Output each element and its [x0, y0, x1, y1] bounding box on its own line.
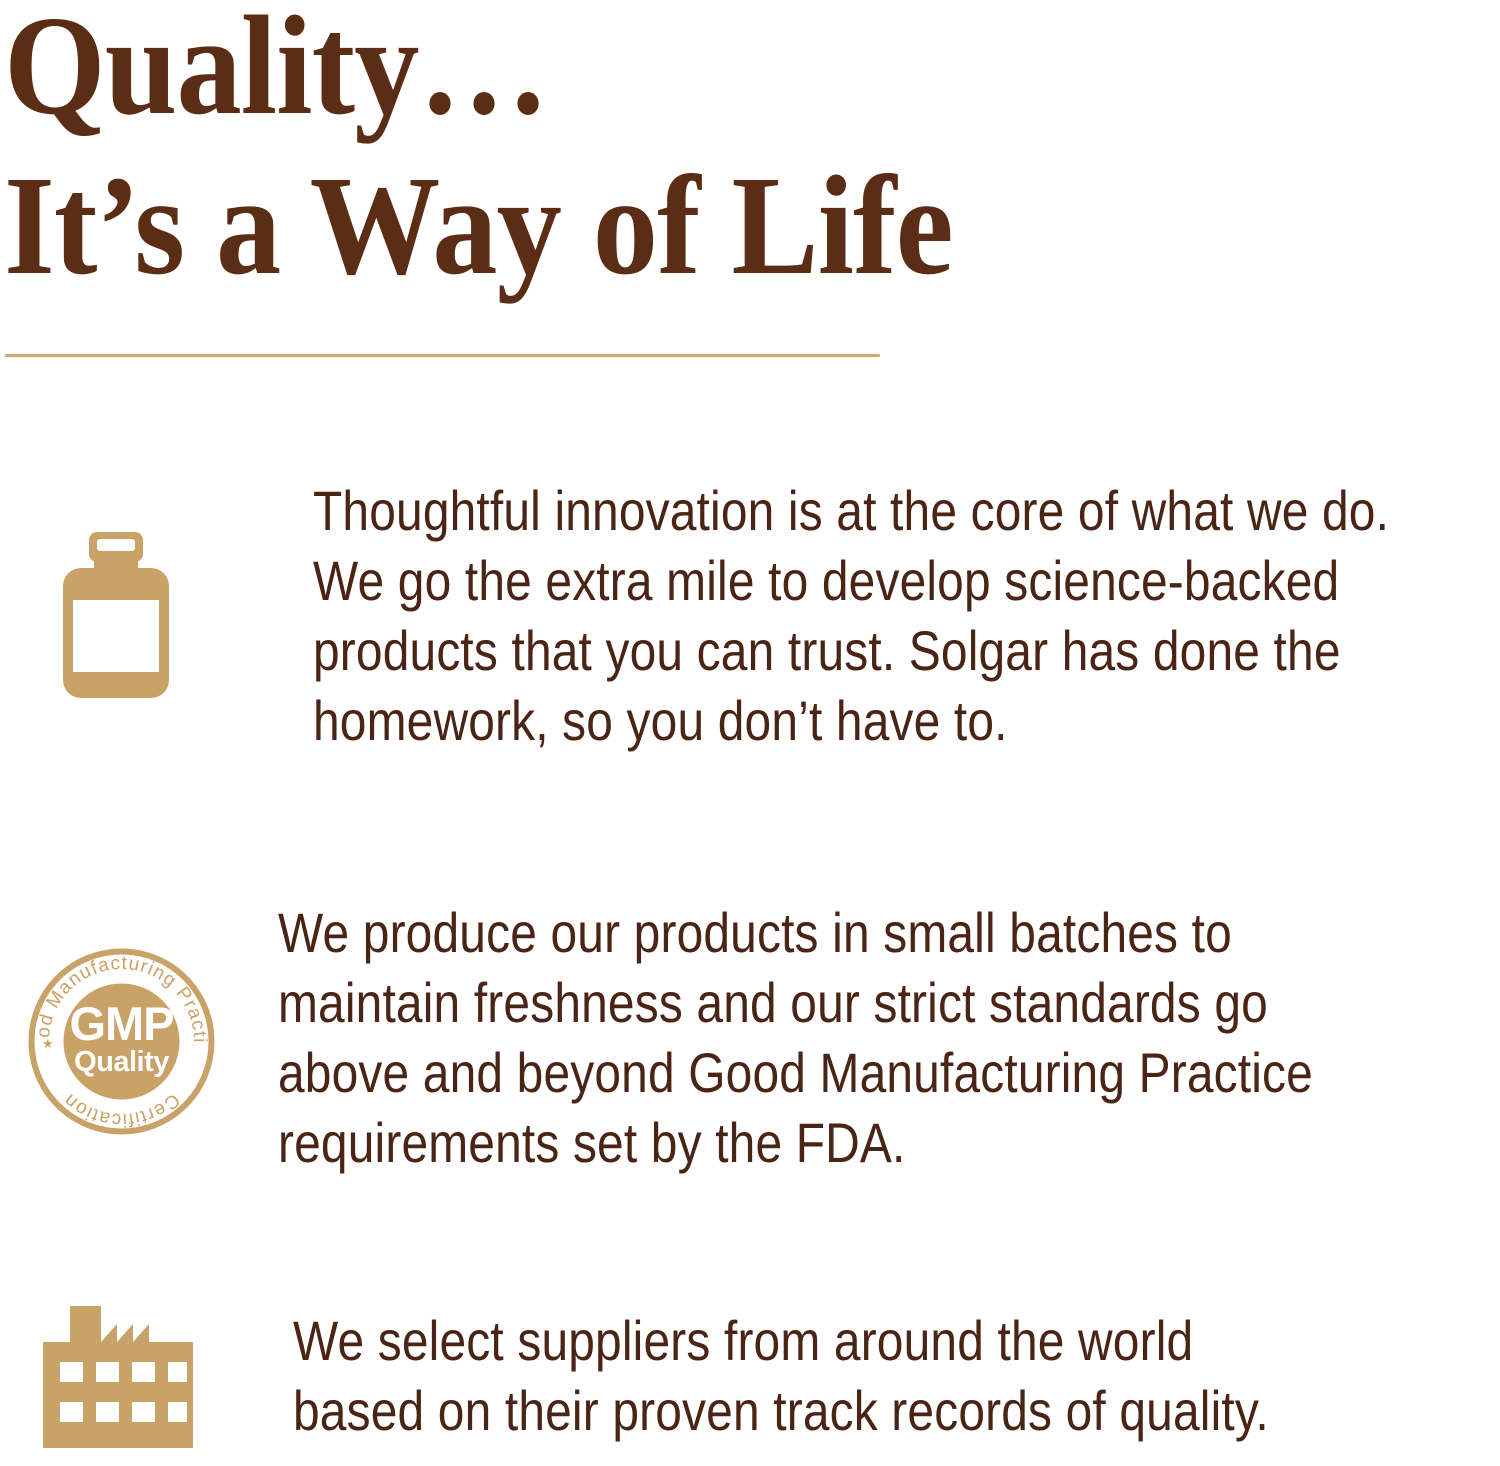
feature-icon-wrap-2: Good Manufacturing Practice Certificatio… [0, 898, 278, 1135]
feature-text-line: We produce our products in small batches… [278, 898, 1313, 968]
feature-row-gmp: Good Manufacturing Practice Certificatio… [0, 898, 1470, 1178]
feature-text-line: We go the extra mile to develop science-… [313, 546, 1389, 616]
page-title-line-2: It’s a Way of Life [4, 154, 1108, 296]
gold-divider-rule [5, 354, 880, 357]
feature-text-line: Thoughtful innovation is at the core of … [313, 476, 1389, 546]
gmp-star-separator-icon: ★ [42, 1037, 54, 1052]
feature-row-suppliers: We select suppliers from around the worl… [0, 1306, 1470, 1448]
factory-icon [43, 1306, 193, 1448]
feature-text-line: homework, so you don’t have to. [313, 686, 1389, 756]
gmp-quality-seal-icon: Good Manufacturing Practice Certificatio… [28, 948, 215, 1135]
feature-text-line: based on their proven track records of q… [293, 1376, 1299, 1446]
supplement-bottle-icon [63, 532, 169, 698]
feature-text-line: maintain freshness and our strict standa… [278, 968, 1313, 1038]
page-title: Quality… It’s a Way of Life [4, 0, 1108, 296]
feature-text-innovation: Thoughtful innovation is at the core of … [313, 476, 1389, 756]
feature-text-line: We select suppliers from around the worl… [293, 1306, 1299, 1376]
feature-text-line: requirements set by the FDA. [278, 1108, 1313, 1178]
feature-icon-wrap-1 [0, 476, 313, 698]
feature-text-line: above and beyond Good Manufacturing Prac… [278, 1038, 1313, 1108]
feature-row-innovation: Thoughtful innovation is at the core of … [0, 476, 1470, 756]
feature-icon-wrap-3 [0, 1306, 293, 1448]
page-title-line-1: Quality… [4, 0, 1108, 136]
feature-text-suppliers: We select suppliers from around the worl… [293, 1306, 1299, 1446]
feature-text-line: products that you can trust. Solgar has … [313, 616, 1389, 686]
feature-text-gmp: We produce our products in small batches… [278, 898, 1313, 1178]
